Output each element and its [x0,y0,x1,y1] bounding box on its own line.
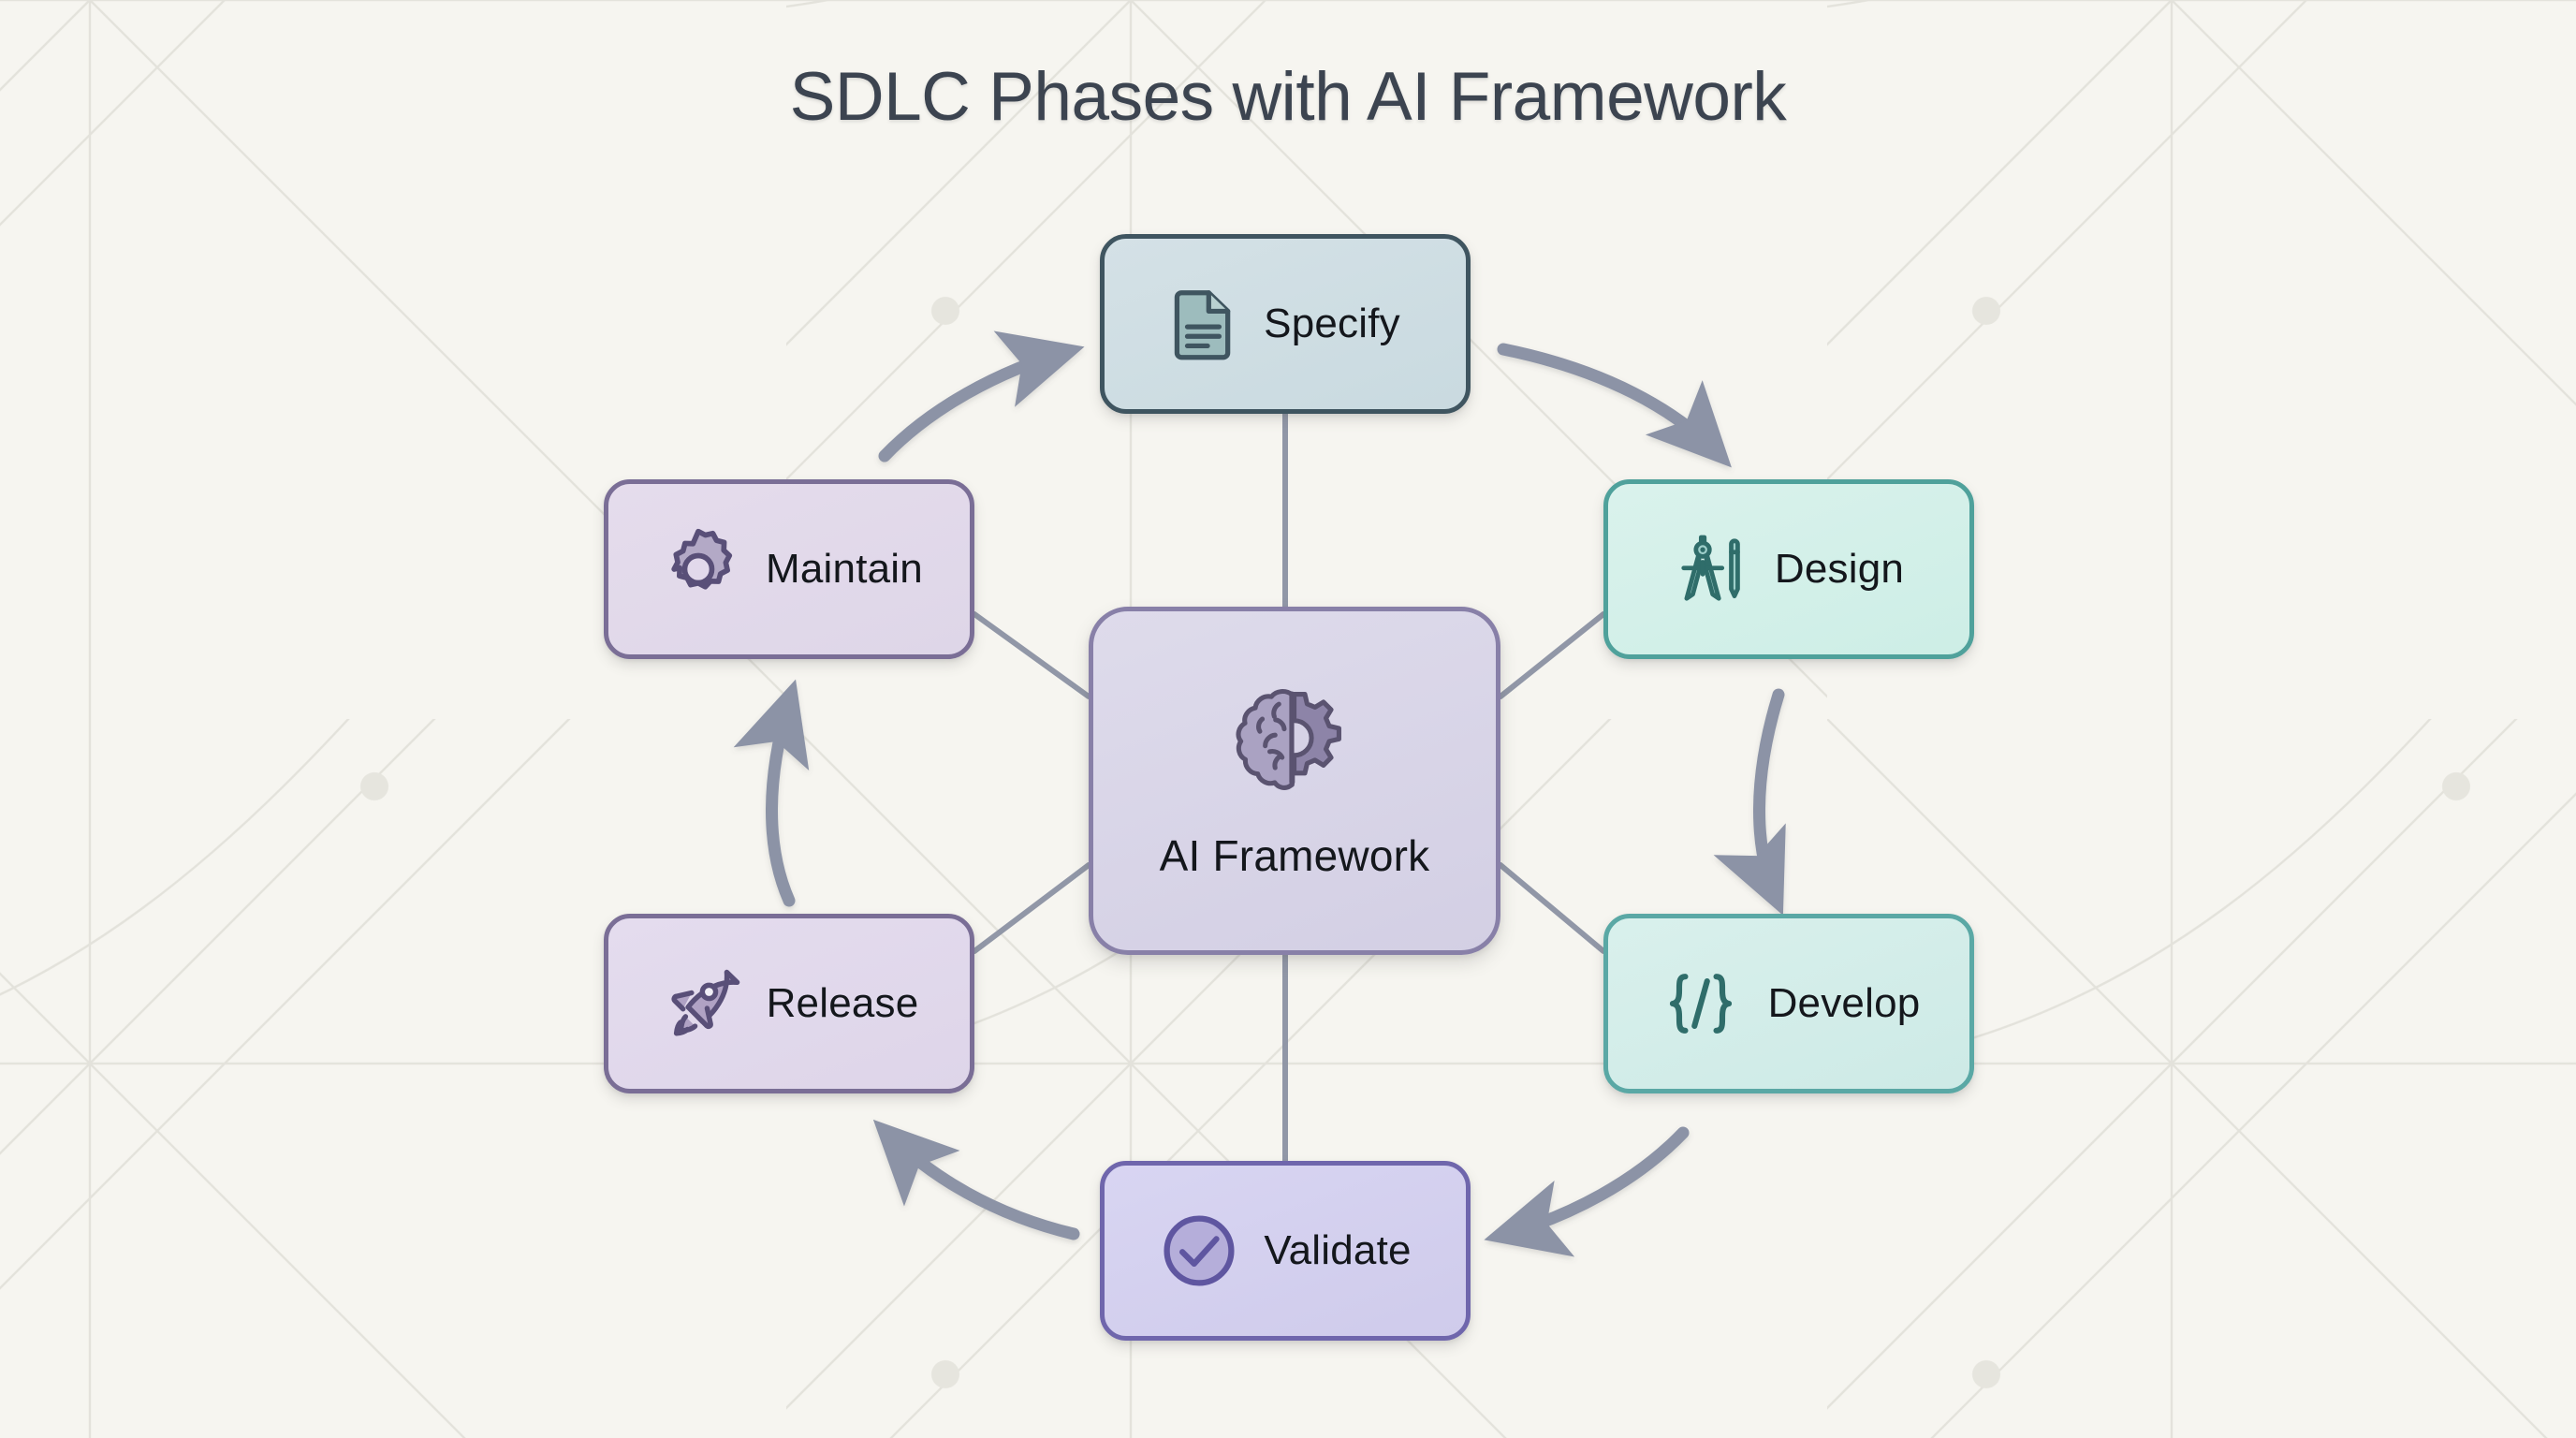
arrow-maintain-to-specify [885,351,1069,456]
node-develop[interactable]: Develop [1603,914,1974,1093]
node-design-label: Design [1775,546,1904,593]
node-maintain-label: Maintain [766,546,923,593]
node-maintain[interactable]: Maintain [604,479,974,659]
node-develop-label: Develop [1768,980,1921,1027]
check-circle-icon [1159,1211,1239,1291]
arrow-develop-to-validate [1500,1133,1683,1236]
arrow-release-to-maintain [771,695,791,901]
node-ai-framework[interactable]: AI Framework [1089,607,1500,955]
rocket-icon [660,962,742,1045]
node-release-label: Release [767,980,919,1027]
brain-gear-icon [1224,681,1365,814]
gear-icon [655,526,741,612]
node-validate[interactable]: Validate [1100,1161,1471,1341]
node-validate-label: Validate [1264,1227,1411,1274]
spoke-design [1500,614,1603,697]
node-design[interactable]: Design [1603,479,1974,659]
node-specify-label: Specify [1264,301,1400,347]
spoke-release [974,865,1089,951]
arrow-validate-to-release [885,1131,1074,1234]
arrow-design-to-develop [1759,695,1778,901]
arrow-specify-to-design [1503,349,1720,456]
node-ai-framework-label: AI Framework [1160,830,1430,881]
page-title: SDLC Phases with AI Framework [0,58,2576,136]
diagram-canvas: SDLC Phases with AI Framework Specify [0,0,2576,1438]
compass-pencil-icon [1674,531,1750,608]
spoke-maintain [974,614,1089,697]
spoke-develop [1500,865,1603,951]
code-braces-icon [1658,968,1744,1039]
node-release[interactable]: Release [604,914,974,1093]
document-icon [1170,286,1239,362]
node-specify[interactable]: Specify [1100,234,1471,414]
